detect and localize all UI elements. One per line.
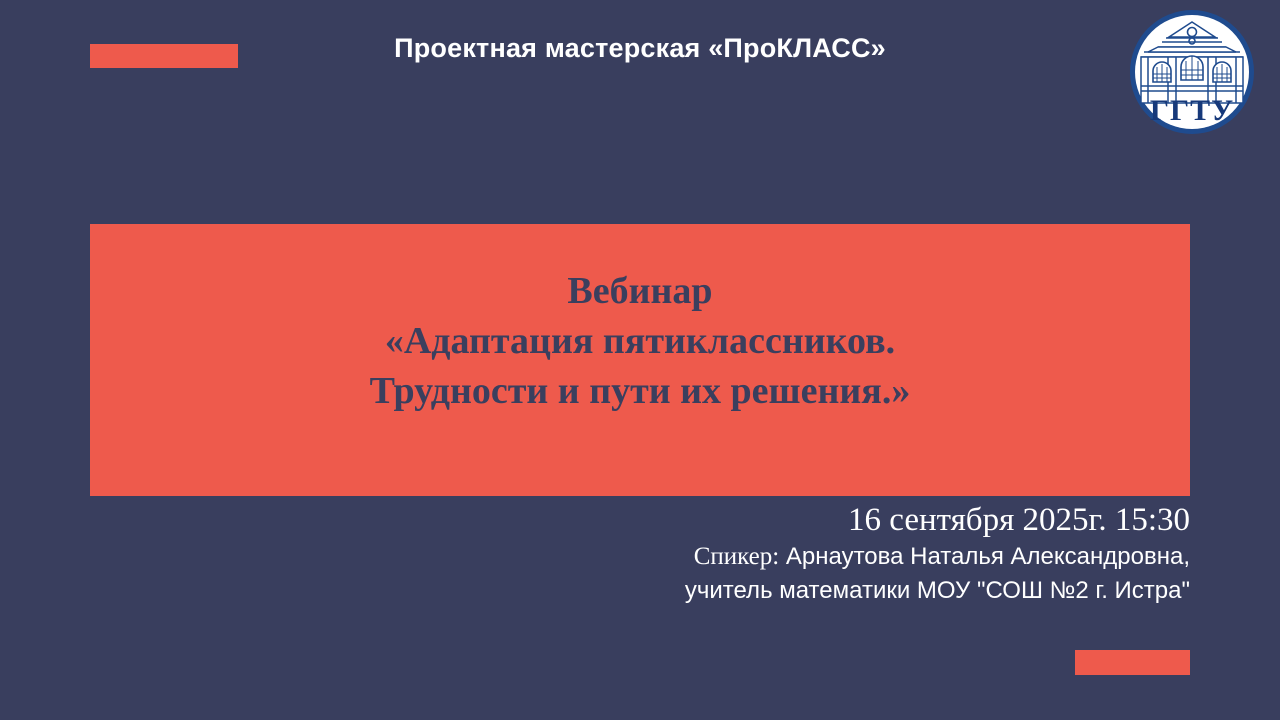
speaker-line: Спикер: Арнаутова Наталья Александровна, [390, 540, 1190, 574]
event-datetime: 16 сентября 2025г. 15:30 [390, 500, 1190, 540]
event-info-block: 16 сентября 2025г. 15:30 Спикер: Арнауто… [390, 500, 1190, 608]
speaker-label: Спикер: [694, 543, 780, 570]
webinar-title-line-3: Трудности и пути их решения.» [370, 366, 911, 416]
ggtu-logo-icon: ГГТУ [1128, 8, 1256, 136]
webinar-title-line-1: Вебинар [567, 266, 712, 316]
speaker-affiliation: учитель математики МОУ "СОШ №2 г. Истра" [390, 574, 1190, 608]
webinar-title-panel: Вебинар «Адаптация пятиклассников. Трудн… [90, 224, 1190, 496]
webinar-title-line-2: «Адаптация пятиклассников. [385, 316, 895, 366]
presentation-slide: Проектная мастерская «ПроКЛАСС» [0, 0, 1280, 720]
svg-text:ГГТУ: ГГТУ [1150, 94, 1234, 127]
page-title: Проектная мастерская «ПроКЛАСС» [0, 33, 1280, 64]
speaker-name: Арнаутова Наталья Александровна, [786, 543, 1190, 570]
accent-bar-bottom-right [1075, 650, 1190, 675]
